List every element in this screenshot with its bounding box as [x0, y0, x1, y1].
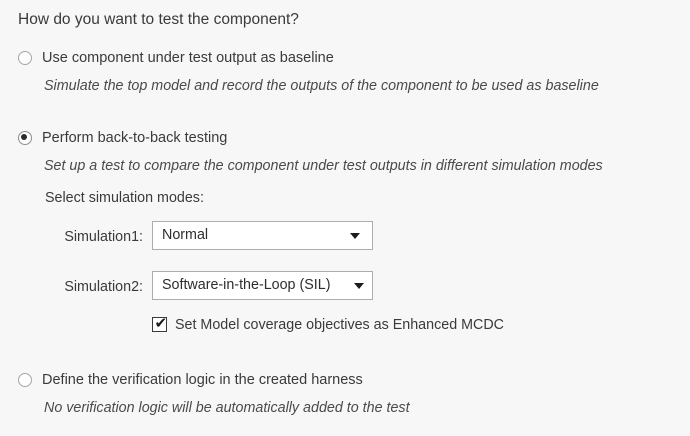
radio-icon-verification-logic[interactable] — [18, 373, 32, 387]
option-group-verification-logic: Define the verification logic in the cre… — [0, 370, 690, 392]
chevron-down-icon[interactable] — [350, 233, 360, 239]
checkbox-icon-enhanced-mcdc[interactable]: ✔ — [152, 317, 167, 332]
option-group-back-to-back: Perform back-to-back testing Set up a te… — [0, 128, 690, 150]
chevron-down-icon[interactable] — [354, 283, 364, 289]
simulation-modes-section-title: Select simulation modes: — [45, 188, 204, 208]
simulation1-dropdown[interactable]: Normal — [152, 221, 373, 250]
simulation2-selected-value: Software-in-the-Loop (SIL) — [162, 272, 330, 299]
option-group-baseline: Use component under test output as basel… — [0, 48, 690, 70]
radio-description-baseline: Simulate the top model and record the ou… — [44, 76, 599, 96]
radio-option-baseline[interactable]: Use component under test output as basel… — [0, 48, 690, 70]
radio-label-baseline[interactable]: Use component under test output as basel… — [42, 48, 334, 68]
radio-option-verification-logic[interactable]: Define the verification logic in the cre… — [0, 370, 690, 392]
check-mark-icon: ✔ — [155, 315, 168, 332]
coverage-checkbox-row[interactable]: ✔ Set Model coverage objectives as Enhan… — [0, 315, 690, 337]
simulation1-label: Simulation1: — [43, 227, 143, 247]
radio-label-back-to-back[interactable]: Perform back-to-back testing — [42, 128, 227, 148]
simulation2-label: Simulation2: — [43, 277, 143, 297]
test-component-dialog-panel: How do you want to test the component? U… — [0, 0, 690, 436]
checkbox-label-enhanced-mcdc[interactable]: Set Model coverage objectives as Enhance… — [175, 315, 504, 335]
radio-option-back-to-back[interactable]: Perform back-to-back testing — [0, 128, 690, 150]
simulation1-selected-value: Normal — [162, 222, 208, 249]
radio-description-verification-logic: No verification logic will be automatica… — [44, 398, 410, 418]
radio-description-back-to-back: Set up a test to compare the component u… — [44, 156, 603, 176]
radio-icon-baseline[interactable] — [18, 51, 32, 65]
page-title: How do you want to test the component? — [18, 10, 299, 30]
radio-icon-back-to-back[interactable] — [18, 131, 32, 145]
simulation2-dropdown[interactable]: Software-in-the-Loop (SIL) — [152, 271, 373, 300]
radio-label-verification-logic[interactable]: Define the verification logic in the cre… — [42, 370, 363, 390]
